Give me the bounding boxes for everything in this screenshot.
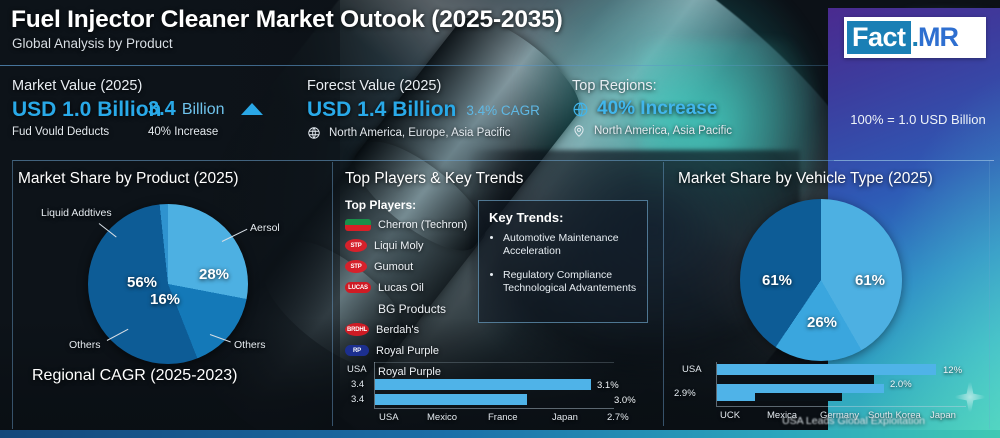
bardahl-logo-icon: BRDHL xyxy=(345,323,369,336)
chevron-logo-icon xyxy=(345,219,371,231)
regional-cagr-chart: USA 3.4 3.4 3.1% 3.0% USA Mexico France … xyxy=(335,360,660,420)
player-item: STP Gumout xyxy=(345,256,470,277)
kpi-top-regions: Top Regions: 40% Increase North America,… xyxy=(572,78,732,138)
location-pin-icon xyxy=(572,124,586,138)
chart-bar xyxy=(717,364,936,375)
chart-y-label: 3.4 xyxy=(351,379,364,390)
vehicle-pie-title: Market Share by Vehicle Type (2025) xyxy=(678,170,933,188)
kpi-forecast-cagr: 3.4% CAGR xyxy=(466,103,540,118)
player-name: Berdah's xyxy=(376,324,419,336)
product-pie-label-others-right: Others xyxy=(234,339,266,351)
product-pie-label-aersol: Aersol xyxy=(250,222,280,234)
product-pie-value-28: 28% xyxy=(199,266,229,283)
chart-x-tick: USA xyxy=(379,412,399,423)
player-item: Cherron (Techron) xyxy=(345,214,470,235)
key-trends-box: Key Trends: Automotive Maintenance Accel… xyxy=(478,200,648,323)
logo-mr-text: .MR xyxy=(911,22,959,53)
scale-equivalence: 100% = 1.0 USD Billion xyxy=(848,112,988,127)
kpi-top-regions-value: 40% Increase xyxy=(597,98,717,120)
kpi-market-value: Market Value (2025) USD 1.0 Billion Fud … xyxy=(12,78,161,138)
chart-y-label: USA xyxy=(682,364,702,375)
chart-x-tick: 2.7% xyxy=(607,412,629,423)
chart-bar xyxy=(375,394,527,405)
chart-x-tick: Japan xyxy=(552,412,578,423)
kpi-market-value-label: Market Value (2025) xyxy=(12,78,161,94)
kpi-forecast-value: Forecst Value (2025) USD 1.4 Billion 3.4… xyxy=(307,78,540,140)
kpi-forecast-label: Forecst Value (2025) xyxy=(307,78,540,94)
player-item: STP Liqui Moly xyxy=(345,235,470,256)
chart-bar xyxy=(375,379,591,390)
royal-purple-logo-icon: RP xyxy=(345,345,369,356)
logo-mr-letters: MR xyxy=(918,22,958,52)
chart-top-gridline xyxy=(374,362,614,363)
player-name: Royal Purple xyxy=(376,345,439,357)
vehicle-pie-value-left: 61% xyxy=(762,272,792,289)
product-pie-label-others-left: Others xyxy=(69,339,101,351)
key-trends-list: Automotive Maintenance Acceleration Regu… xyxy=(489,232,637,295)
lucas-oil-logo-icon: LUCAS xyxy=(345,282,371,293)
vehicle-pie-value-right: 61% xyxy=(855,272,885,289)
key-trend-item: Automotive Maintenance Acceleration xyxy=(503,232,637,258)
kpi-market-value-sub: Fud Vould Deducts xyxy=(12,126,161,138)
chart-y-label: USA xyxy=(347,364,367,375)
page-title: Fuel Injector Cleaner Market Outook (202… xyxy=(11,6,563,34)
blank-logo-icon xyxy=(345,303,371,315)
bottom-accent-bar xyxy=(0,430,1000,438)
chart-bar-dark xyxy=(717,375,874,384)
panel-divider xyxy=(332,162,333,426)
chart-bar-value: 3.1% xyxy=(597,380,619,391)
chart-x-tick: France xyxy=(488,412,518,423)
chart-x-tick: Japan xyxy=(930,410,956,421)
page-subtitle: Global Analysis by Product xyxy=(12,36,173,51)
top-players-list: Cherron (Techron) STP Liqui Moly STP Gum… xyxy=(345,214,470,382)
kpi-growth-sub: 40% Increase xyxy=(148,126,263,138)
player-name: Liqui Moly xyxy=(374,240,424,252)
kpi-growth-number: 3.4 xyxy=(148,98,176,121)
key-trends-heading: Key Trends: xyxy=(489,210,637,225)
logo-fact-text: Fact xyxy=(847,21,911,54)
chart-x-tick: Mexico xyxy=(427,412,457,423)
vehicle-pie-value-bottom: 26% xyxy=(807,314,837,331)
globe-grid-icon xyxy=(572,101,589,118)
chart-y-label: 3.4 xyxy=(351,394,364,405)
chart-bar-value: 3.0% xyxy=(614,395,636,406)
kpi-growth-unit: Billion xyxy=(182,101,225,119)
chart-x-tick: UCK xyxy=(720,410,740,421)
factmr-logo: Fact .MR xyxy=(844,17,986,58)
stp-logo-icon: STP xyxy=(345,239,367,252)
panel-divider xyxy=(663,162,664,426)
infographic-root: Fuel Injector Cleaner Market Outook (202… xyxy=(0,0,1000,438)
chart-x-axis xyxy=(716,406,966,407)
kpi-top-regions-list: North America, Asia Pacific xyxy=(594,125,732,137)
player-name: Cherron (Techron) xyxy=(378,219,467,231)
kpi-market-value-amount: USD 1.0 Billion xyxy=(12,98,161,122)
regional-cagr-title: Regional CAGR (2025-2023) xyxy=(32,367,237,385)
chart-y-label: 2.9% xyxy=(674,388,696,399)
top-players-heading: Top Players: xyxy=(345,198,416,212)
player-name: BG Products xyxy=(378,302,446,316)
chart-bar xyxy=(717,393,755,401)
kpi-growth: 3.4 Billion 40% Increase xyxy=(148,98,263,138)
kpi-top-regions-label: Top Regions: xyxy=(572,78,732,94)
kpi-forecast-amount: USD 1.4 Billion xyxy=(307,98,456,122)
product-pie-label-liquid-additives: Liquid Addtives xyxy=(41,207,112,219)
product-pie-value-16: 16% xyxy=(150,291,180,308)
player-name: Lucas Oil xyxy=(378,282,424,294)
players-section-title: Top Players & Key Trends xyxy=(345,170,523,188)
kpi-forecast-regions: North America, Europe, Asia Pacific xyxy=(329,127,511,139)
stp-logo-icon: STP xyxy=(345,260,367,273)
player-item: RP Royal Purple xyxy=(345,340,470,361)
chart-bar xyxy=(717,384,884,393)
vehicle-bars-footer: USA Leads Global Exploitation xyxy=(782,415,925,427)
product-pie-title: Market Share by Product (2025) xyxy=(18,170,239,188)
chart-bar-value: 2.0% xyxy=(890,379,912,390)
player-item: BG Products xyxy=(345,298,470,319)
globe-icon xyxy=(307,126,321,140)
player-item: LUCAS Lucas Oil xyxy=(345,277,470,298)
vehicle-bars-chart: USA 2.9% 12% 2.0% UCK Mexica Germany Sou… xyxy=(668,360,998,422)
chart-x-axis xyxy=(374,408,614,409)
player-name: Gumout xyxy=(374,261,413,273)
key-trend-item: Regulatory Compliance Technological Adva… xyxy=(503,269,637,295)
caret-up-icon xyxy=(241,103,263,115)
product-pie-value-56: 56% xyxy=(127,274,157,291)
player-item: BRDHL Berdah's xyxy=(345,319,470,340)
chart-bar-value: 12% xyxy=(943,365,962,376)
